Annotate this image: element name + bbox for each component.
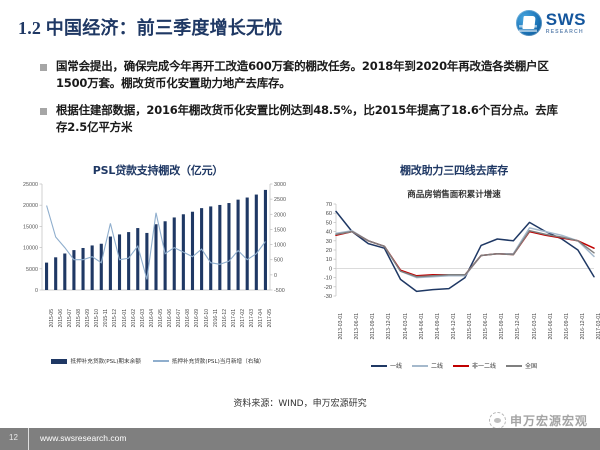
- legend-item: 抵押补充贷款(PSL)期末余额: [51, 357, 140, 365]
- axis-tick-label: 2016-02: [131, 309, 137, 327]
- axis-tick-label: 2013-09-01: [370, 313, 376, 340]
- legend-item: 二线: [412, 361, 443, 370]
- sales-growth-chart-svg: -30-20-10010203040506070: [308, 200, 600, 312]
- axis-tick-label: 2015-12: [112, 309, 118, 327]
- sales-growth-chart-legend: 一线二线非一二线全国: [308, 361, 600, 370]
- psl-chart-xaxis: 2015-052015-062015-072015-082015-092015-…: [8, 308, 308, 354]
- axis-tick-label: 2016-06: [167, 309, 173, 327]
- legend-label: 一线: [390, 361, 402, 370]
- legend-swatch: [371, 365, 387, 367]
- axis-tick-label: 2016-09-01: [564, 313, 570, 340]
- svg-text:-30: -30: [324, 294, 332, 300]
- axis-tick-label: 2015-10: [94, 309, 100, 327]
- footer-divider: [28, 428, 29, 450]
- sales-growth-chart-subtitle: 商品房销售面积累计增速: [308, 188, 600, 200]
- legend-label: 抵押补充贷款(PSL)当月新增（右轴）: [172, 357, 265, 365]
- svg-text:1000: 1000: [274, 243, 286, 249]
- axis-tick-label: 2013-03-01: [338, 313, 344, 340]
- sws-logo-text: SWS: [546, 11, 586, 28]
- svg-text:500: 500: [274, 258, 283, 264]
- legend-swatch: [453, 365, 469, 367]
- sws-logo-icon: [516, 10, 542, 36]
- svg-text:1500: 1500: [274, 227, 286, 233]
- axis-tick-label: 2014-03-01: [403, 313, 409, 340]
- footer-bar: 12 www.swsresearch.com: [0, 428, 600, 450]
- axis-tick-label: 2017-01: [231, 309, 237, 327]
- psl-chart-svg: 0500010000150002000025000-50005001000150…: [8, 178, 308, 308]
- footer-url: www.swsresearch.com: [40, 433, 126, 443]
- svg-text:70: 70: [326, 202, 332, 208]
- svg-text:2500: 2500: [274, 197, 286, 203]
- axis-tick-label: 2016-11: [213, 309, 219, 327]
- axis-tick-label: 2017-02: [240, 309, 246, 327]
- axis-tick-label: 2016-12: [222, 309, 228, 327]
- svg-text:-500: -500: [274, 288, 285, 294]
- legend-swatch: [51, 359, 67, 364]
- charts-row: PSL贷款支持棚改（亿元） 0500010000150002000025000-…: [0, 160, 600, 390]
- page-number: 12: [9, 433, 18, 442]
- axis-tick-label: 2017-05: [267, 309, 273, 327]
- svg-text:10000: 10000: [23, 246, 38, 252]
- svg-text:15000: 15000: [23, 224, 38, 230]
- legend-swatch: [153, 360, 169, 362]
- svg-text:60: 60: [326, 211, 332, 217]
- sws-logo-subtext: RESEARCH: [546, 30, 586, 35]
- psl-chart-title: PSL贷款支持棚改（亿元）: [8, 162, 308, 178]
- sales-growth-chart-plot: -30-20-10010203040506070: [308, 200, 600, 312]
- legend-item: 非一二线: [453, 361, 496, 370]
- axis-tick-label: 2016-04: [149, 309, 155, 327]
- axis-tick-label: 2017-04: [258, 309, 264, 327]
- axis-tick-label: 2017-03: [249, 309, 255, 327]
- axis-tick-label: 2015-08: [76, 309, 82, 327]
- axis-tick-label: 2014-06-01: [419, 313, 425, 340]
- legend-label: 抵押补充贷款(PSL)期末余额: [70, 357, 140, 365]
- svg-text:0: 0: [329, 266, 332, 272]
- axis-tick-label: 2015-06: [58, 309, 64, 327]
- svg-text:2000: 2000: [274, 212, 286, 218]
- source-note: 资料来源：WIND，申万宏源研究: [0, 396, 600, 409]
- legend-label: 二线: [431, 361, 443, 370]
- svg-text:10: 10: [326, 257, 332, 263]
- axis-tick-label: 2015-05: [49, 309, 55, 327]
- sales-growth-chart-title: 棚改助力三四线去库存: [308, 162, 600, 178]
- axis-tick-label: 2016-01: [122, 309, 128, 327]
- axis-tick-label: 2016-12-01: [580, 313, 586, 340]
- legend-label: 非一二线: [472, 361, 496, 370]
- axis-tick-label: 2016-07: [176, 309, 182, 327]
- bullet-text: 国常会提出，确保完成今年再开工改造600万套的棚改任务。2018年到2020年再…: [56, 58, 560, 93]
- sales-growth-chart: 棚改助力三四线去库存 商品房销售面积累计增速 -30-20-1001020304…: [308, 160, 600, 390]
- svg-text:40: 40: [326, 230, 332, 236]
- axis-tick-label: 2015-12-01: [515, 313, 521, 340]
- sws-logo: SWS RESEARCH: [516, 10, 586, 36]
- psl-chart-plot: 0500010000150002000025000-50005001000150…: [8, 178, 308, 308]
- axis-tick-label: 2016-08: [185, 309, 191, 327]
- svg-text:20: 20: [326, 248, 332, 254]
- psl-chart-legend: 抵押补充贷款(PSL)期末余额抵押补充贷款(PSL)当月新增（右轴）: [8, 357, 308, 365]
- svg-text:50: 50: [326, 220, 332, 226]
- legend-swatch: [506, 365, 522, 367]
- svg-text:30: 30: [326, 239, 332, 245]
- page-title: 1.2 中国经济：前三季度增长无忧: [18, 14, 282, 40]
- sales-growth-chart-xaxis: 2013-03-012013-06-012013-09-012013-12-01…: [308, 312, 600, 358]
- axis-tick-label: 2014-09-01: [435, 313, 441, 340]
- axis-tick-label: 2016-09: [194, 309, 200, 327]
- legend-label: 全国: [525, 361, 537, 370]
- svg-text:-20: -20: [324, 285, 332, 291]
- axis-tick-label: 2014-12-01: [451, 313, 457, 340]
- axis-tick-label: 2016-03: [140, 309, 146, 327]
- axis-tick-label: 2015-09-01: [499, 313, 505, 340]
- axis-tick-label: 2016-10: [204, 309, 210, 327]
- svg-text:0: 0: [274, 273, 277, 279]
- bullet-list: 国常会提出，确保完成今年再开工改造600万套的棚改任务。2018年到2020年再…: [40, 58, 560, 146]
- axis-tick-label: 2015-11: [103, 309, 109, 327]
- axis-tick-label: 2015-06-01: [483, 313, 489, 340]
- axis-tick-label: 2016-06-01: [548, 313, 554, 340]
- slide: 1.2 中国经济：前三季度增长无忧 SWS RESEARCH 国常会提出，确保完…: [0, 0, 600, 450]
- psl-chart: PSL贷款支持棚改（亿元） 0500010000150002000025000-…: [8, 160, 308, 390]
- list-item: 国常会提出，确保完成今年再开工改造600万套的棚改任务。2018年到2020年再…: [40, 58, 560, 93]
- legend-swatch: [412, 365, 428, 367]
- svg-text:20000: 20000: [23, 203, 38, 209]
- axis-tick-label: 2016-03-01: [532, 313, 538, 340]
- axis-tick-label: 2013-06-01: [354, 313, 360, 340]
- bullet-square-icon: [40, 64, 47, 71]
- axis-tick-label: 2015-07: [67, 309, 73, 327]
- axis-tick-label: 2015-03-01: [467, 313, 473, 340]
- bullet-text: 根据住建部数据，2016年棚改货币化安置比例达到48.5%，比2015年提高了1…: [56, 102, 560, 137]
- svg-text:-10: -10: [324, 276, 332, 282]
- watermark: 申万宏源宏观: [489, 412, 588, 429]
- axis-tick-label: 2016-05: [158, 309, 164, 327]
- axis-tick-label: 2015-09: [85, 309, 91, 327]
- svg-text:5000: 5000: [26, 267, 38, 273]
- watermark-text: 申万宏源宏观: [510, 412, 588, 429]
- svg-text:25000: 25000: [23, 182, 38, 188]
- legend-item: 全国: [506, 361, 537, 370]
- legend-item: 一线: [371, 361, 402, 370]
- svg-text:0: 0: [35, 288, 38, 294]
- watermark-icon: [489, 412, 506, 429]
- svg-text:3000: 3000: [274, 182, 286, 188]
- legend-item: 抵押补充贷款(PSL)当月新增（右轴）: [153, 357, 265, 365]
- axis-tick-label: 2017-03-01: [596, 313, 600, 340]
- axis-tick-label: 2013-12-01: [386, 313, 392, 340]
- list-item: 根据住建部数据，2016年棚改货币化安置比例达到48.5%，比2015年提高了1…: [40, 102, 560, 137]
- bullet-square-icon: [40, 108, 47, 115]
